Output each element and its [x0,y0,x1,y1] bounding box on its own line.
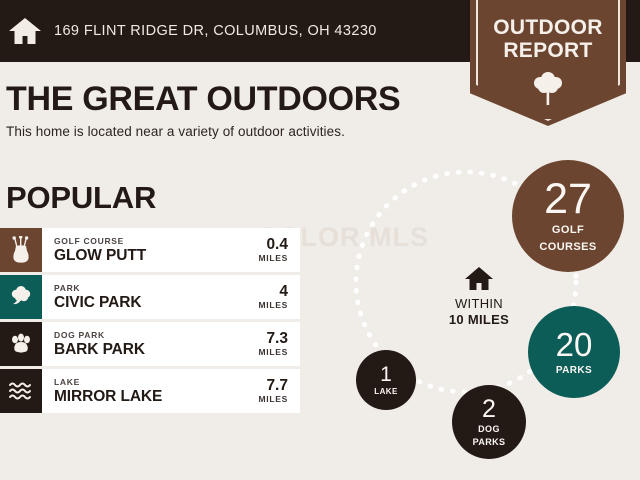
list-item-category: GOLF COURSE [54,236,259,247]
property-address: 169 FLINT RIDGE DR, COLUMBUS, OH 43230 [54,23,377,39]
count-circle-golf-courses[interactable]: 27 GOLF COURSES [512,160,624,272]
badge-line-2: REPORT [470,39,626,62]
tree-icon [528,68,568,108]
count-label-line-1: GOLF [552,224,584,237]
page-subtitle: This home is located near a variety of o… [6,124,345,139]
paw-icon [0,322,42,366]
within-radius-label: WITHIN 10 MILES [425,266,533,328]
section-title-popular: POPULAR [6,180,156,216]
list-item-distance: 4 [259,283,288,300]
count-label-line-1: DOG [478,424,500,434]
list-item-unit: MILES [259,394,288,405]
list-item-distance: 0.4 [259,236,288,253]
list-item-name: CIVIC PARK [54,294,259,312]
count-value: 1 [380,365,392,385]
count-value: 20 [556,329,593,361]
golf-bag-icon [0,228,42,272]
tree-icon [0,275,42,319]
list-item[interactable]: PARK CIVIC PARK 4 MILES [0,275,300,319]
list-item-distance: 7.7 [259,377,288,394]
list-item-distance: 7.3 [259,330,288,347]
within-line-1: WITHIN [425,296,533,312]
count-value: 27 [544,179,592,219]
list-item[interactable]: LAKE MIRROR LAKE 7.7 MILES [0,369,300,413]
badge-line-1: OUTDOOR [470,16,626,39]
outdoor-report-page: 169 FLINT RIDGE DR, COLUMBUS, OH 43230 O… [0,0,640,480]
count-label-line-1: PARKS [556,365,592,376]
list-item-unit: MILES [259,347,288,358]
within-line-2: 10 MILES [425,312,533,328]
count-circle-dog-parks[interactable]: 2 DOG PARKS [452,385,526,459]
list-item-name: GLOW PUTT [54,247,259,265]
count-circle-parks[interactable]: 20 PARKS [528,306,620,398]
count-label-line-2: PARKS [473,437,506,447]
list-item[interactable]: DOG PARK BARK PARK 7.3 MILES [0,322,300,366]
page-title: THE GREAT OUTDOORS [6,80,400,119]
popular-list: GOLF COURSE GLOW PUTT 0.4 MILES [0,228,300,416]
house-icon [464,266,494,292]
list-item[interactable]: GOLF COURSE GLOW PUTT 0.4 MILES [0,228,300,272]
list-item-category: DOG PARK [54,330,259,341]
count-value: 2 [482,397,496,421]
count-circle-lake[interactable]: 1 LAKE [356,350,416,410]
house-icon [8,16,42,46]
list-item-category: PARK [54,283,259,294]
waves-icon [0,369,42,413]
count-label-line-2: COURSES [539,241,596,254]
list-item-unit: MILES [259,253,288,264]
outdoor-report-badge: OUTDOOR REPORT [470,0,626,126]
list-item-unit: MILES [259,300,288,311]
list-item-category: LAKE [54,377,259,388]
list-item-name: BARK PARK [54,341,259,359]
count-label-line-1: LAKE [374,387,397,396]
list-item-name: MIRROR LAKE [54,388,259,406]
